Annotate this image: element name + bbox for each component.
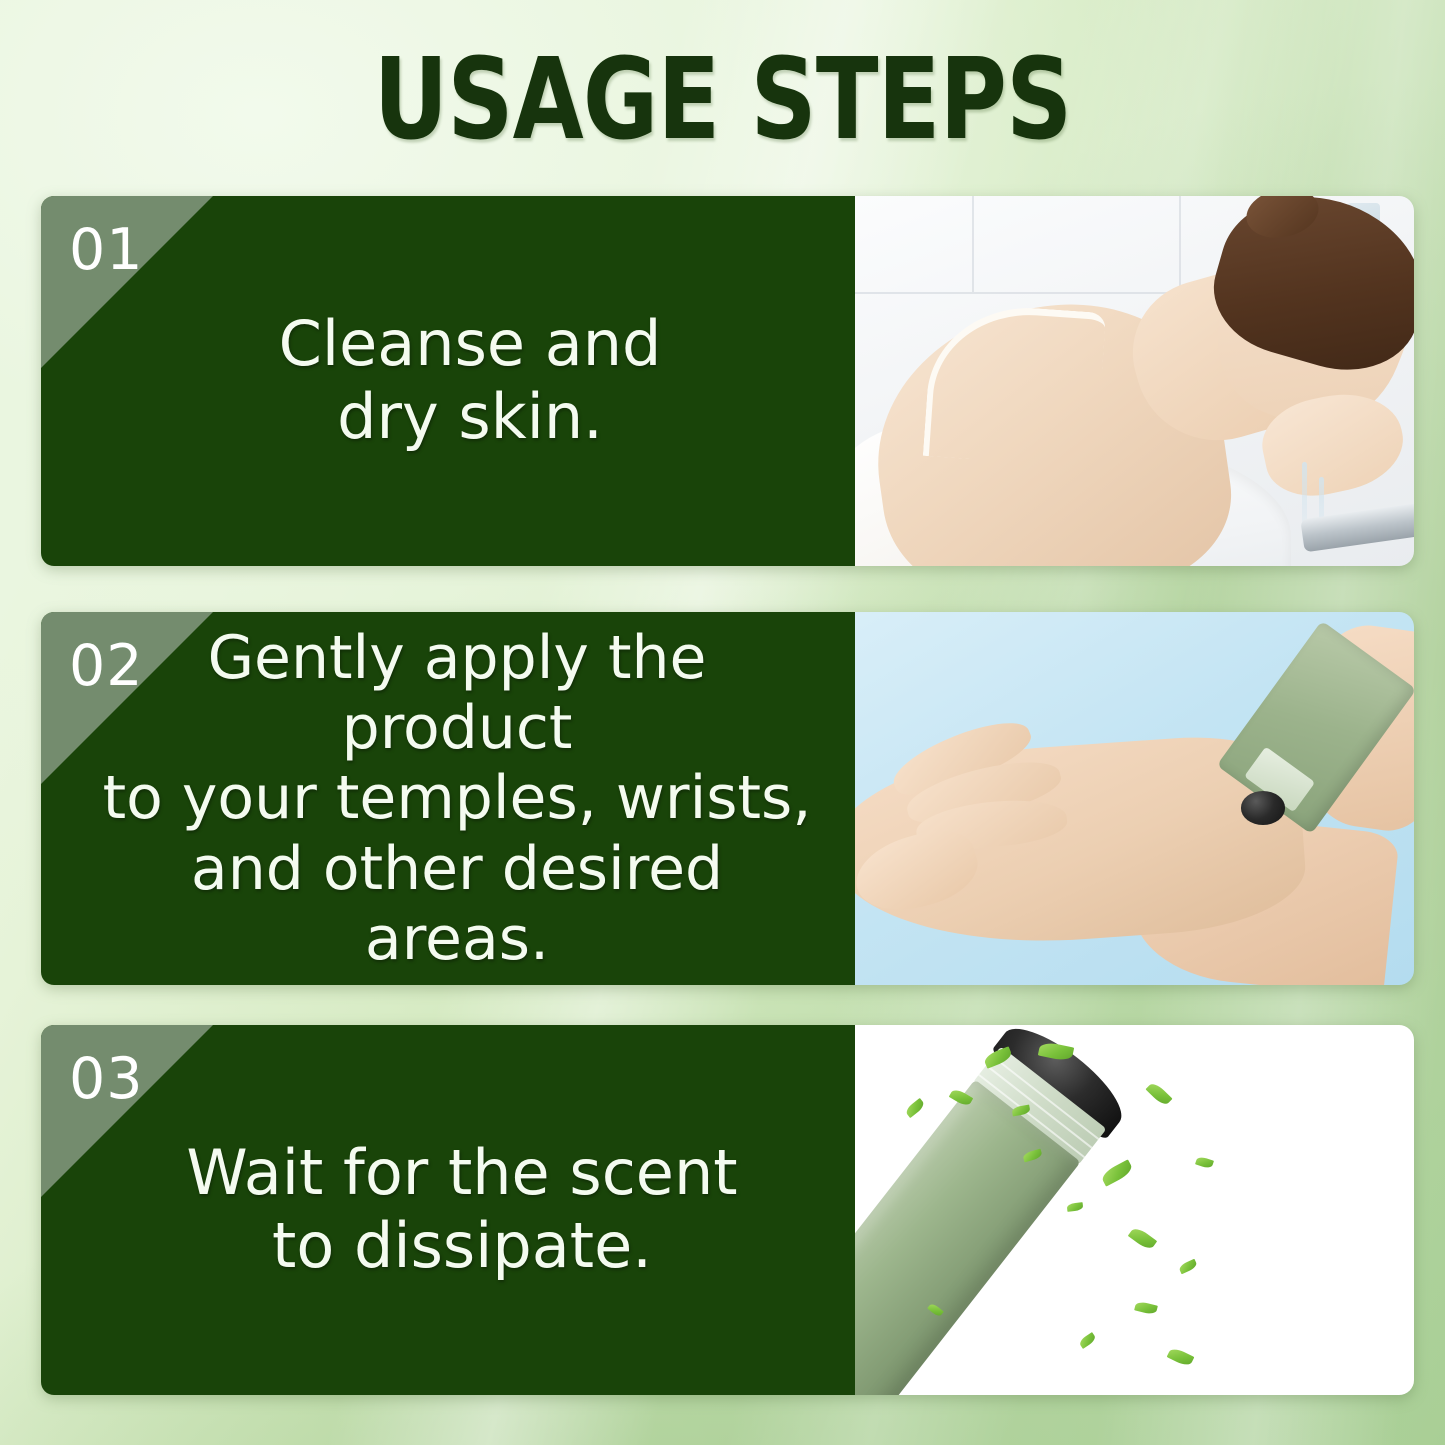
leaf [1145, 1081, 1172, 1108]
faucet [1300, 502, 1414, 552]
step-number-1: 01 [69, 222, 144, 279]
step-panel-2: 02 Gently apply the product to your temp… [41, 612, 855, 985]
woman-washing-face-photo [855, 196, 1414, 566]
leaf [1195, 1156, 1214, 1170]
step-number-3: 03 [69, 1051, 144, 1108]
product-bottle-photo: Gentle Vertigo Relief Roll-On 10ml/0.34F… [855, 1025, 1414, 1395]
step-text-3: Wait for the scent to dissipate. [124, 1137, 771, 1282]
top-strap [922, 301, 1106, 468]
step-text-2: Gently apply the product to your temples… [41, 623, 855, 974]
rollerball [1241, 791, 1286, 825]
applying-rollon-to-wrist-photo [855, 612, 1414, 985]
step-panel-3: 03 Wait for the scent to dissipate. [41, 1025, 855, 1395]
step-row-2: 02 Gently apply the product to your temp… [41, 612, 1414, 985]
step-row-3: 03 Wait for the scent to dissipate. Gent… [41, 1025, 1414, 1395]
page-title: USAGE STEPS [130, 44, 1315, 156]
step-row-1: 01 Cleanse and dry skin. [41, 196, 1414, 566]
step-panel-1: 01 Cleanse and dry skin. [41, 196, 855, 566]
step-text-1: Cleanse and dry skin. [201, 308, 696, 453]
tile-line [972, 196, 974, 292]
tile-line [1179, 196, 1181, 292]
product-bottle [855, 1025, 1392, 1395]
